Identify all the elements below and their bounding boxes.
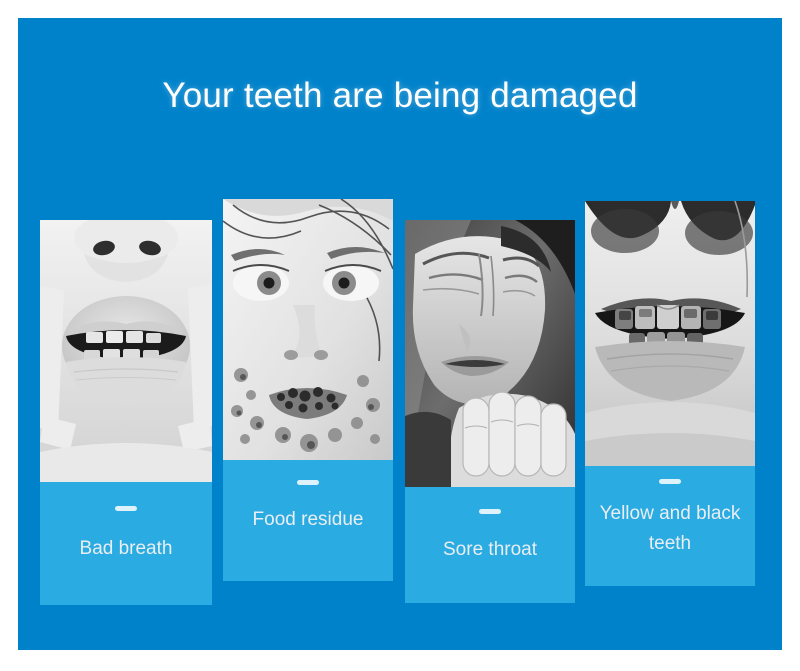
symptom-card-food-residue[interactable]: Food residue	[223, 199, 393, 581]
symptom-card-bad-breath[interactable]: Bad breath	[40, 220, 212, 605]
page-title: Your teeth are being damaged	[18, 76, 782, 116]
man-holding-throat-photo	[405, 220, 575, 487]
divider-dash	[115, 506, 137, 511]
symptom-card-label: Bad breath	[46, 534, 206, 564]
girl-face-food-residue-photo	[223, 199, 393, 460]
poster-banner: Your teeth are being damaged	[18, 18, 782, 650]
symptom-card-label: Food residue	[229, 505, 387, 535]
symptom-card-sore-throat[interactable]: Sore throat	[405, 220, 575, 603]
mouth-with-tape-photo	[40, 220, 212, 482]
divider-dash	[297, 480, 319, 485]
symptom-card-yellow-black-teeth[interactable]: Yellow and black teeth	[585, 201, 755, 586]
divider-dash	[479, 509, 501, 514]
divider-dash	[659, 479, 681, 484]
symptom-card-label: Sore throat	[411, 535, 569, 565]
symptom-card-label: Yellow and black teeth	[591, 499, 749, 559]
discolored-teeth-photo	[585, 201, 755, 466]
